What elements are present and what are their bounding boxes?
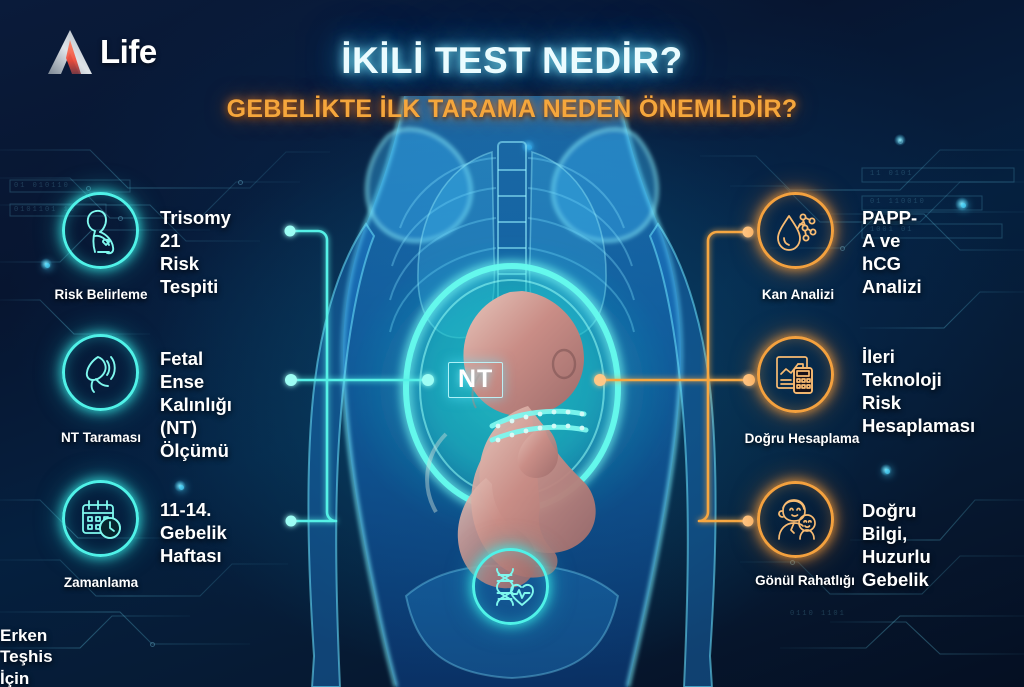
feature-right-1-headline: PAPP-A ve hCG Analizi — [862, 207, 922, 299]
feature-left-1-headline: Trisomy 21 Risk Tespiti — [160, 207, 231, 299]
risk-calculation-icon-circle[interactable] — [757, 336, 834, 413]
feature-left-3-caption: Zamanlama — [38, 575, 164, 590]
feature-right-2-caption: Doğru Hesaplama — [722, 431, 882, 446]
timing-icon-circle[interactable] — [62, 480, 139, 557]
code-snippet: 0110 1101 — [790, 610, 846, 618]
feature-right-1-caption: Kan Analizi — [733, 287, 863, 302]
headline-line: 11-14. Gebelik — [160, 499, 227, 545]
feature-right-3-caption: Gönül Rahatlığı — [735, 573, 875, 588]
headline-line: Huzurlu Gebelik — [862, 546, 931, 592]
headline-line: Doğru Bilgi, — [862, 500, 931, 546]
headline-line: Risk — [862, 392, 975, 415]
code-snippet: 11 0101 — [870, 170, 913, 178]
ultrasound-probe-icon — [77, 349, 125, 397]
headline-line: Risk Tespiti — [160, 253, 231, 299]
peace-of-mind-icon-circle[interactable] — [757, 481, 834, 558]
code-snippet: 01 010110 — [14, 182, 70, 190]
headline-line: İleri Teknoloji — [862, 346, 975, 392]
feature-right-2-headline: İleri Teknoloji Risk Hesaplaması — [862, 346, 975, 438]
code-snippet: 01 110010 — [870, 198, 926, 206]
dna-heartbeat-icon — [487, 565, 535, 609]
headline-line: hCG Analizi — [862, 253, 922, 299]
page-subtitle: GEBELİKTE İLK TARAMA NEDEN ÖNEMLİDİR? — [0, 95, 1024, 124]
risk-determination-icon-circle[interactable] — [62, 192, 139, 269]
feature-left-1-caption: Risk Belirleme — [36, 287, 166, 302]
nt-screening-icon-circle[interactable] — [62, 334, 139, 411]
chart-calculator-icon — [772, 352, 820, 398]
early-diagnosis-icon-circle[interactable] — [472, 548, 549, 625]
headline-line: Kalınlığı (NT) — [160, 394, 232, 440]
mother-and-baby-icon — [771, 497, 821, 543]
pregnant-woman-icon — [78, 206, 124, 256]
page-title: İKİLİ TEST NEDİR? — [0, 40, 1024, 82]
feature-left-2-caption: NT Taraması — [38, 430, 164, 445]
feature-left-2-headline: Fetal Ense Kalınlığı (NT) Ölçümü — [160, 348, 232, 463]
headline-line: Ölçümü — [160, 440, 232, 463]
headline-line: Trisomy 21 — [160, 207, 231, 253]
headline-line: PAPP-A ve — [862, 207, 922, 253]
nt-measurement-badge: NT — [448, 362, 503, 398]
blood-analysis-icon-circle[interactable] — [757, 192, 834, 269]
blood-drop-molecule-icon — [772, 208, 820, 254]
feature-right-3-headline: Doğru Bilgi, Huzurlu Gebelik — [862, 500, 931, 592]
feature-left-3-headline: 11-14. Gebelik Haftası — [160, 499, 227, 568]
headline-line: Hesaplaması — [862, 415, 975, 438]
headline-line: Haftası — [160, 545, 227, 568]
headline-line: Fetal Ense — [160, 348, 232, 394]
infographic-canvas: 01 010110 0101101 10 11 0101 01 110010 1… — [0, 0, 1024, 687]
calendar-clock-icon — [77, 496, 125, 542]
